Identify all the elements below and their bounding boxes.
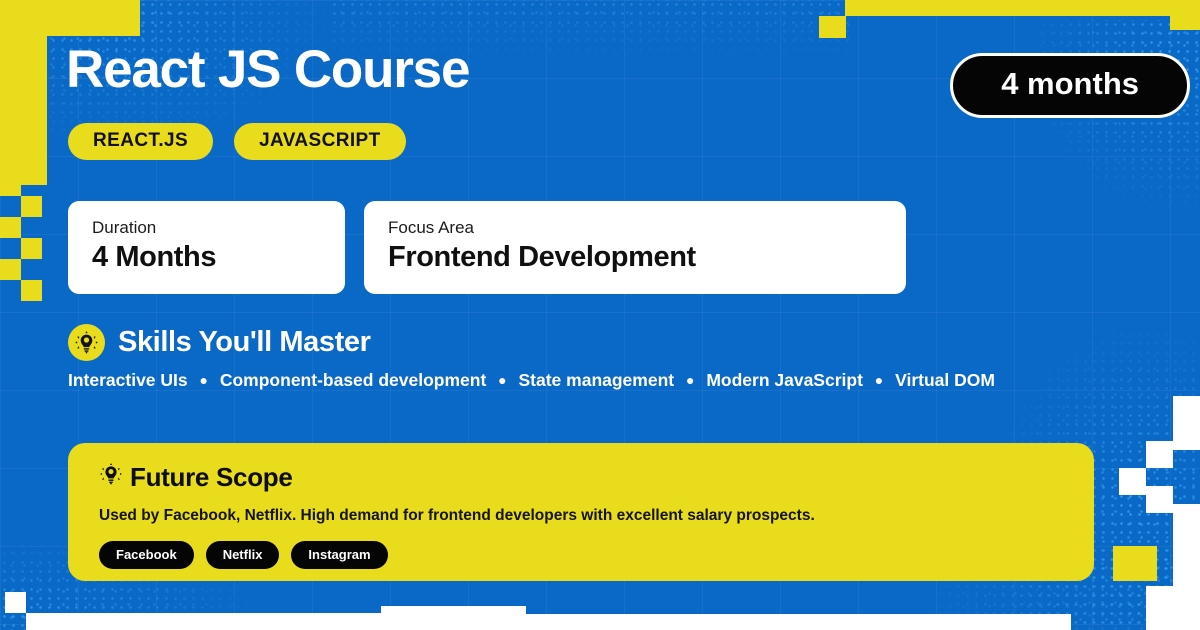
info-card-focus-area: Focus Area Frontend Development bbox=[364, 201, 906, 294]
technology-tag-list: REACT.JS JAVASCRIPT bbox=[68, 123, 406, 160]
future-scope-title: Future Scope bbox=[130, 464, 293, 490]
info-card-list: Duration 4 Months Focus Area Frontend De… bbox=[68, 201, 906, 294]
bullet-separator-icon: ● bbox=[498, 371, 506, 391]
lightbulb-icon bbox=[68, 324, 105, 361]
skills-section-title: Skills You'll Master bbox=[118, 328, 370, 357]
technology-tag-reactjs[interactable]: REACT.JS bbox=[68, 123, 213, 160]
future-scope-description: Used by Facebook, Netflix. High demand f… bbox=[99, 506, 1063, 526]
skill-item: Component-based development bbox=[220, 370, 486, 390]
lightbulb-icon bbox=[99, 462, 123, 491]
course-banner-card: React JS Course REACT.JS JAVASCRIPT 4 mo… bbox=[0, 0, 1200, 630]
skill-item: Modern JavaScript bbox=[706, 370, 863, 390]
company-tag-list: Facebook Netflix Instagram bbox=[99, 541, 1063, 569]
duration-badge: 4 months bbox=[950, 53, 1190, 118]
bullet-separator-icon: ● bbox=[875, 371, 883, 391]
company-tag-facebook[interactable]: Facebook bbox=[99, 541, 194, 569]
info-card-value: 4 Months bbox=[92, 239, 321, 275]
future-scope-header: Future Scope bbox=[99, 462, 1063, 491]
skill-item: Interactive UIs bbox=[68, 370, 188, 390]
technology-tag-javascript[interactable]: JAVASCRIPT bbox=[234, 123, 406, 160]
bullet-separator-icon: ● bbox=[200, 371, 208, 391]
info-card-duration: Duration 4 Months bbox=[68, 201, 345, 294]
info-card-label: Duration bbox=[92, 218, 321, 238]
banner-content: React JS Course REACT.JS JAVASCRIPT 4 mo… bbox=[0, 0, 1200, 630]
company-tag-netflix[interactable]: Netflix bbox=[206, 541, 280, 569]
skill-item: Virtual DOM bbox=[895, 370, 995, 390]
info-card-value: Frontend Development bbox=[388, 239, 882, 275]
future-scope-panel: Future Scope Used by Facebook, Netflix. … bbox=[68, 443, 1094, 581]
info-card-label: Focus Area bbox=[388, 218, 882, 238]
bullet-separator-icon: ● bbox=[686, 371, 694, 391]
skills-section-header: Skills You'll Master bbox=[68, 324, 370, 361]
company-tag-instagram[interactable]: Instagram bbox=[291, 541, 387, 569]
skills-list: Interactive UIs ● Component-based develo… bbox=[68, 368, 1013, 393]
skill-item: State management bbox=[519, 370, 675, 390]
page-title: React JS Course bbox=[66, 43, 469, 96]
